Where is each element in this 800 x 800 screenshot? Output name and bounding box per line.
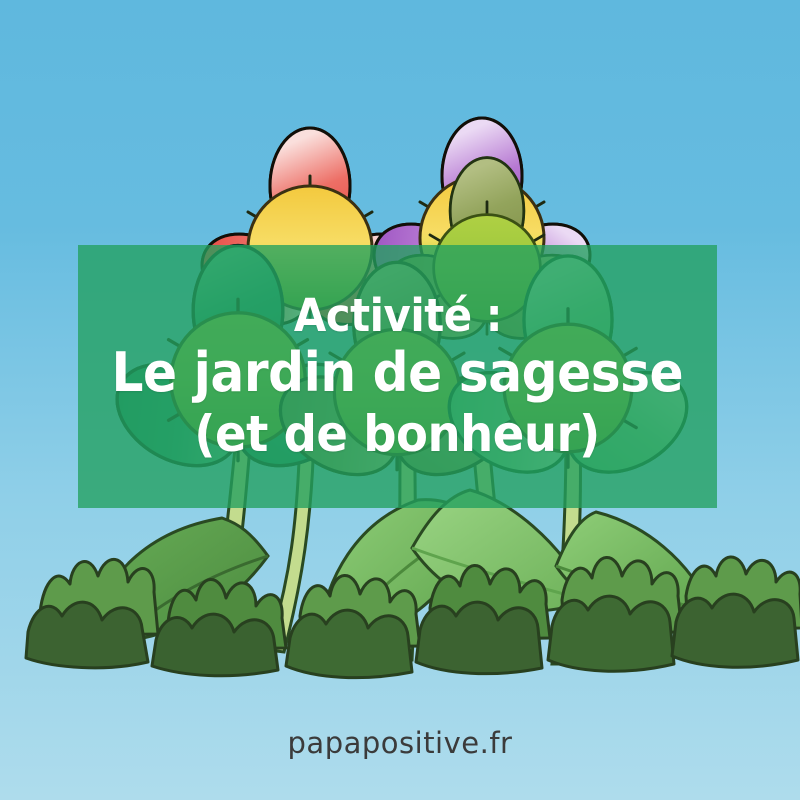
grass-tuft-3 xyxy=(286,575,420,677)
poster-canvas: Activité : Le jardin de sagesse (et de b… xyxy=(0,0,800,800)
headline-line-3: (et de bonheur) xyxy=(195,406,601,462)
grass-tuft-1 xyxy=(26,559,158,667)
headline-line-2: Le jardin de sagesse xyxy=(112,343,684,403)
headline-line-1: Activité : xyxy=(293,291,501,341)
site-watermark: papapositive.fr xyxy=(0,726,800,760)
headline-block: Activité : Le jardin de sagesse (et de b… xyxy=(78,245,717,508)
